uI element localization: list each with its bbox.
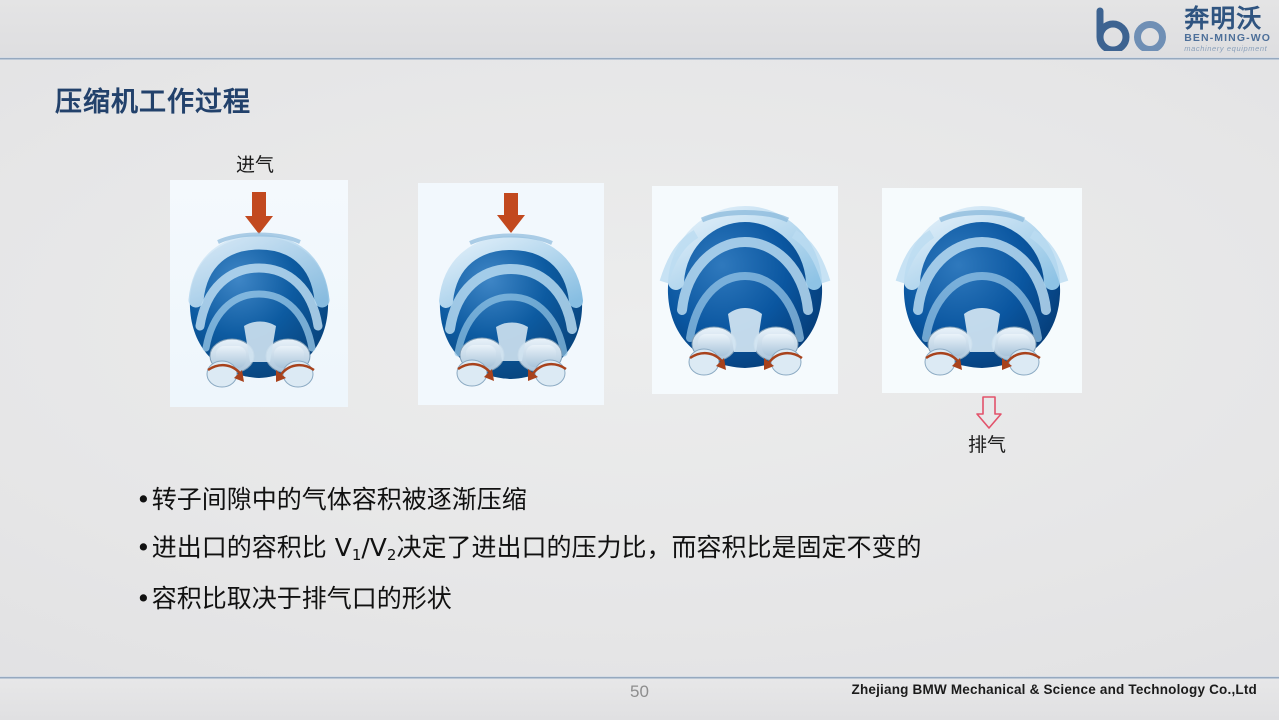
logo-chinese-name: 奔明沃 (1184, 6, 1262, 31)
volume-ratio-subscript-2: 2 (387, 546, 397, 564)
bullet-dot: • (136, 533, 151, 562)
rotor-figure-stage-4 (882, 188, 1082, 393)
rotor-figure-stage-2 (418, 183, 604, 405)
page-title: 压缩机工作过程 (55, 80, 251, 119)
rotor-figure-stage-3 (652, 186, 838, 394)
bullet-dot: • (136, 485, 151, 514)
volume-ratio-subscript-1: 1 (352, 546, 362, 564)
slide-canvas: 奔明沃 BEN-MING-WO machinery equipment 压缩机工… (0, 0, 1279, 720)
bullet-text: 转子间隙中的气体容积被逐渐压缩 (152, 485, 527, 514)
exhaust-label: 排气 (968, 430, 1006, 457)
footer-company-name: Zhejiang BMW Mechanical & Science and Te… (852, 682, 1258, 697)
company-logo: 奔明沃 BEN-MING-WO machinery equipment (1063, 4, 1271, 54)
bullet-list: •转子间隙中的气体容积被逐渐压缩 •进出口的容积比 V1/V2决定了进出口的压力… (136, 476, 1136, 623)
logo-tagline: machinery equipment (1184, 45, 1267, 53)
rotor-figure-stage-1 (170, 180, 348, 407)
bo-monogram-icon (1094, 7, 1180, 51)
bullet-item-1: •转子间隙中的气体容积被逐渐压缩 (136, 476, 1136, 524)
bullet-item-3: •容积比取决于排气口的形状 (136, 575, 1136, 623)
logo-latin-name: BEN-MING-WO (1184, 33, 1271, 44)
bullet-text: 容积比取决于排气口的形状 (152, 584, 452, 613)
bullet-item-2: •进出口的容积比 V1/V2决定了进出口的压力比，而容积比是固定不变的 (136, 524, 1136, 575)
exhaust-arrow-icon (970, 396, 1008, 430)
bullet-text-post: 决定了进出口的压力比，而容积比是固定不变的 (396, 533, 921, 562)
header-divider (0, 57, 1279, 60)
bullet-dot: • (136, 584, 151, 613)
bullet-text-pre: 进出口的容积比 V (152, 533, 352, 562)
bullet-text-mid: /V (361, 533, 387, 562)
intake-label: 进气 (236, 150, 274, 177)
